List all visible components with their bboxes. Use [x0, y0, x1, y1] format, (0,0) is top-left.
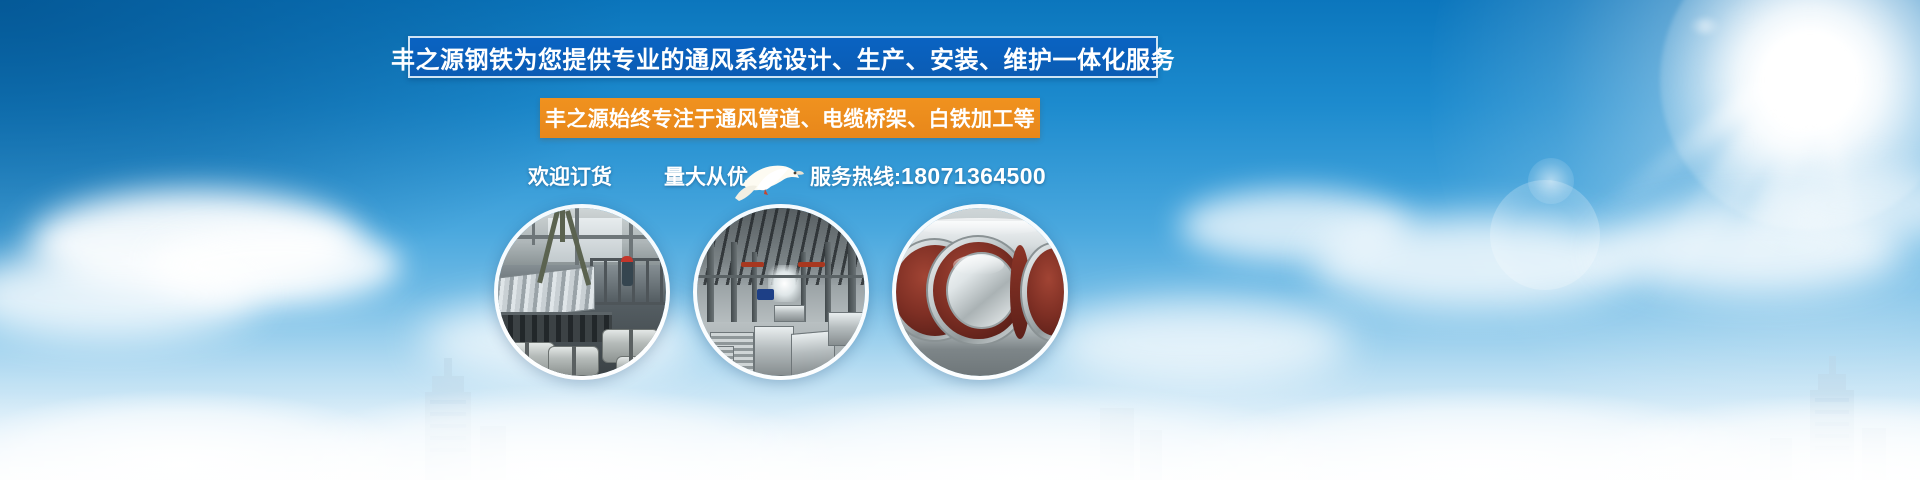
headline-banner: 丰之源钢铁为您提供专业的通风系统设计、生产、安装、维护一体化服务	[408, 36, 1158, 78]
hotline: 服务热线: 18071364500	[810, 155, 1046, 197]
hotline-label: 服务热线:	[810, 161, 901, 191]
subheadline-banner: 丰之源始终专注于通风管道、电缆桥架、白铁加工等	[540, 98, 1040, 138]
subheadline-text: 丰之源始终专注于通风管道、电缆桥架、白铁加工等	[545, 103, 1035, 133]
photo-circle-round-ducts	[892, 204, 1068, 380]
dove-icon	[735, 148, 805, 206]
photo-circle-workshop	[693, 204, 869, 380]
headline-text: 丰之源钢铁为您提供专业的通风系统设计、生产、安装、维护一体化服务	[391, 40, 1175, 75]
lens-flare-icon	[1690, 18, 1720, 34]
hotline-number: 18071364500	[901, 163, 1046, 190]
tagline-welcome-order: 欢迎订货	[528, 161, 612, 191]
photo-circle-steel-loading	[494, 204, 670, 380]
promo-banner: 丰之源钢铁为您提供专业的通风系统设计、生产、安装、维护一体化服务 丰之源始终专注…	[0, 0, 1920, 480]
